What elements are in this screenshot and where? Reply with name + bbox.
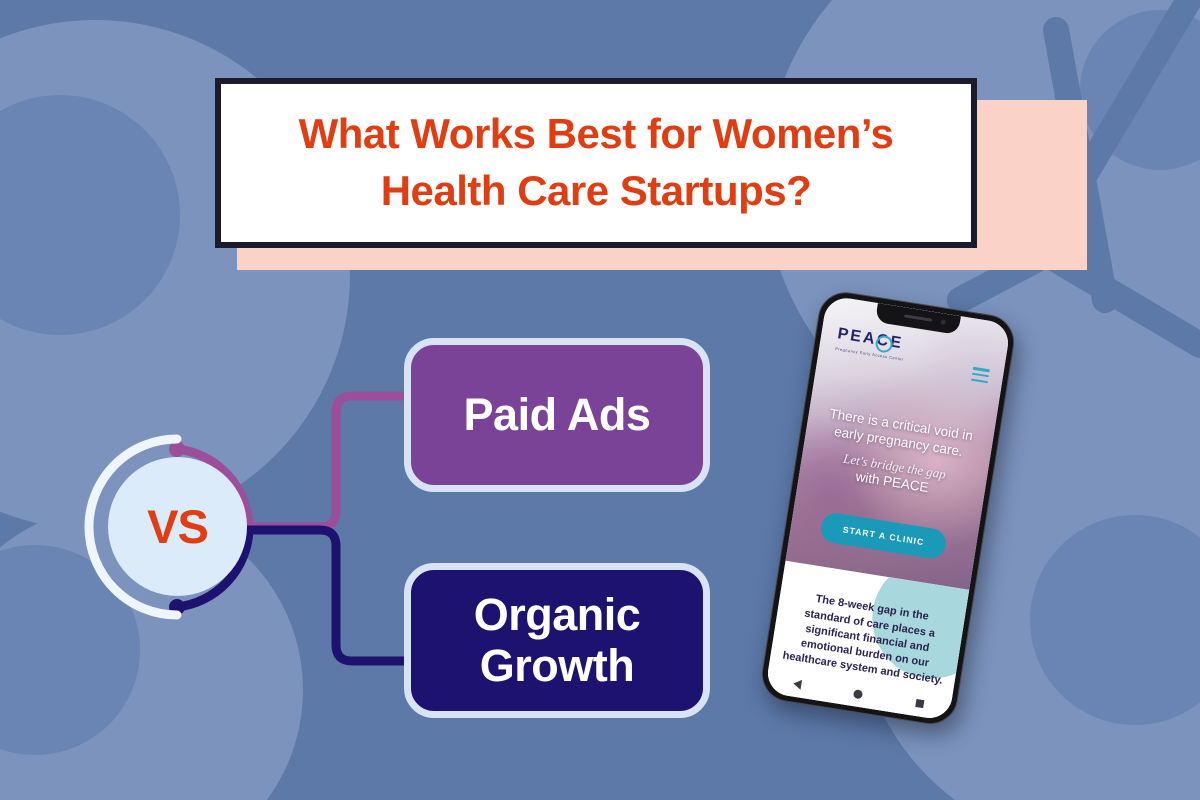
- vs-label: VS: [147, 499, 208, 554]
- slide-canvas: What Works Best for Women’s Health Care …: [0, 0, 1200, 800]
- hamburger-menu-icon[interactable]: [970, 367, 990, 387]
- option-card-organic-growth[interactable]: Organic Growth: [404, 563, 710, 718]
- phone-body: PEACE Pregnancy Early Access Center Ther…: [758, 288, 1018, 728]
- front-camera-icon: [940, 319, 946, 325]
- option-card-paid-ads[interactable]: Paid Ads: [404, 338, 710, 492]
- option-label-paid-ads: Paid Ads: [464, 390, 651, 440]
- phone-screen: PEACE Pregnancy Early Access Center Ther…: [765, 295, 1012, 721]
- recents-square-icon[interactable]: [915, 699, 924, 708]
- earpiece-speaker-icon: [904, 314, 932, 321]
- home-circle-icon[interactable]: [853, 689, 863, 699]
- back-triangle-icon[interactable]: [792, 679, 801, 690]
- vs-badge: VS: [82, 432, 272, 622]
- title-card: What Works Best for Women’s Health Care …: [215, 78, 977, 248]
- option-label-organic-growth: Organic Growth: [411, 590, 703, 691]
- page-title: What Works Best for Women’s Health Care …: [221, 106, 971, 219]
- vs-circle: VS: [108, 457, 247, 596]
